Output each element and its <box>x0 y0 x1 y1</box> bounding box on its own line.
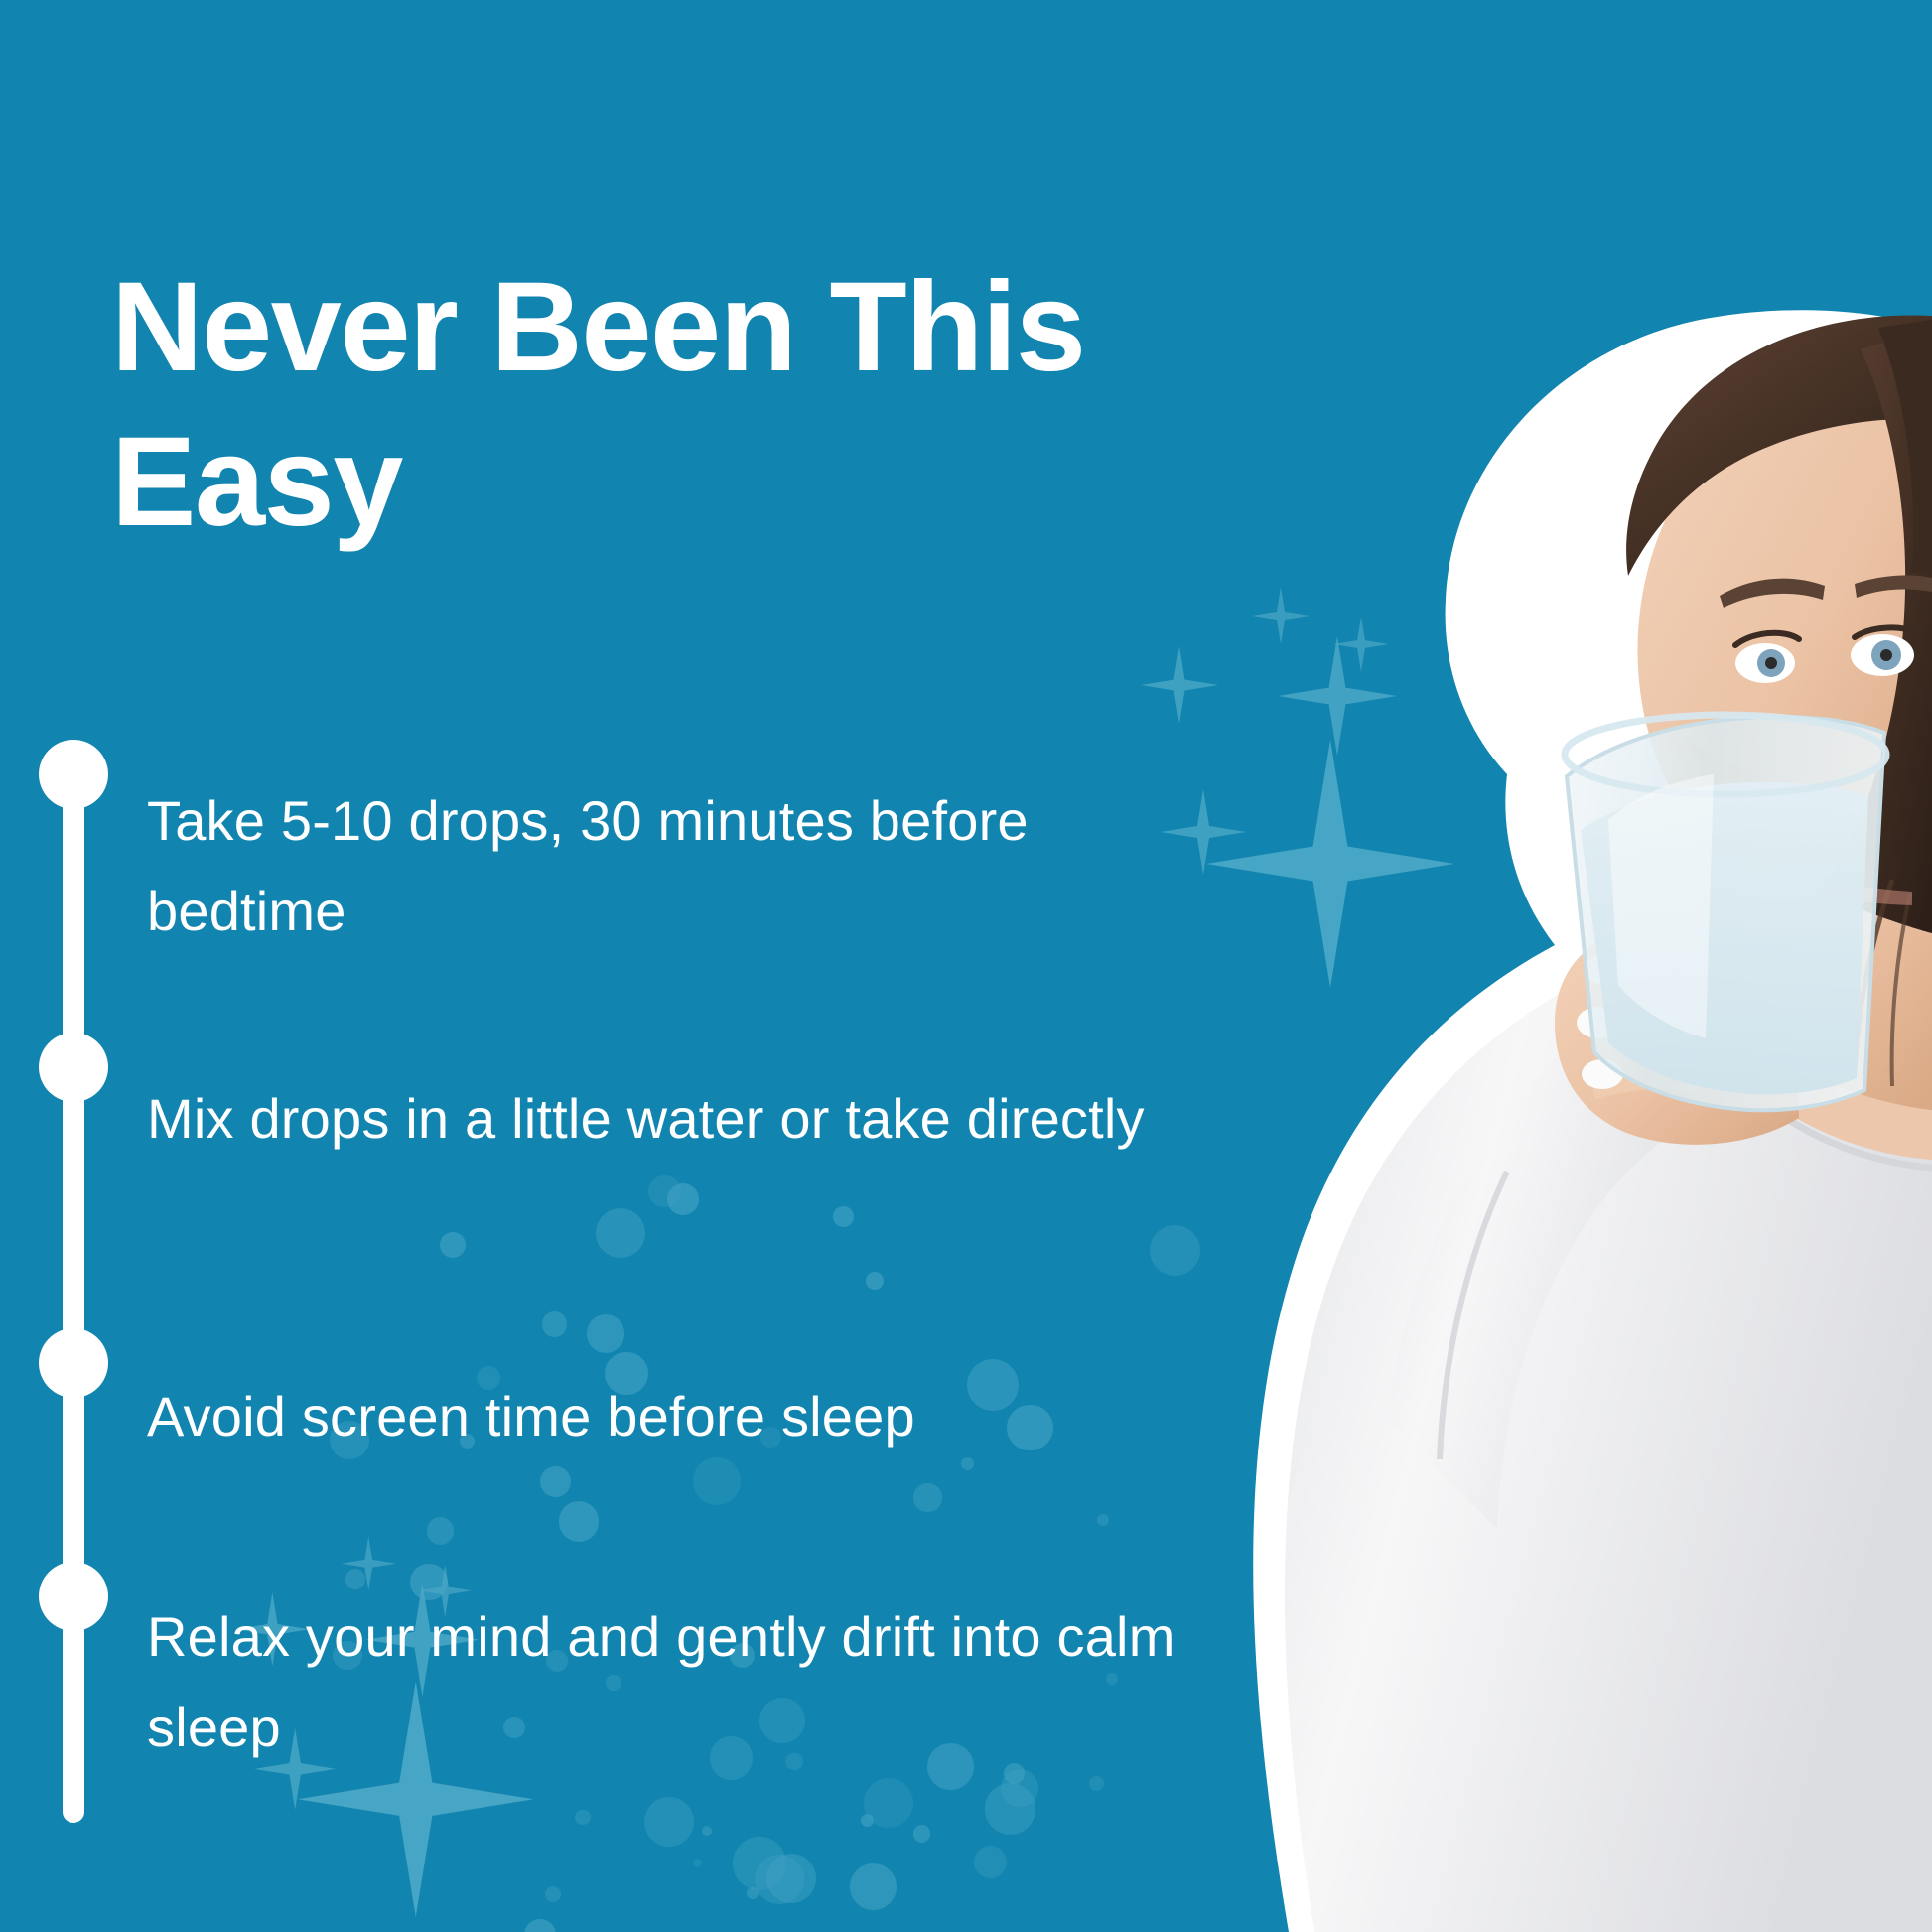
page-title: Never Been This Easy <box>111 250 1283 560</box>
bubble-decoration <box>702 1826 712 1836</box>
photo-water-glass <box>1565 715 1886 1110</box>
timeline-dot-4 <box>39 1562 108 1631</box>
bubble-decoration <box>648 1175 681 1208</box>
bubble-decoration <box>440 1232 466 1258</box>
bubble-decoration <box>596 1208 645 1258</box>
step-text-3: Avoid screen time before sleep <box>147 1372 1179 1462</box>
bubble-decoration <box>766 1854 816 1903</box>
bubble-decoration <box>644 1797 694 1847</box>
bubble-decoration <box>866 1272 884 1290</box>
bubble-decoration <box>575 1810 591 1826</box>
sparkle-star-icon <box>342 1536 396 1590</box>
timeline-dot-2 <box>39 1033 108 1102</box>
bubble-decoration <box>747 1887 759 1899</box>
bubble-decoration <box>913 1825 931 1843</box>
bubble-decoration <box>667 1183 699 1215</box>
bubble-decoration <box>542 1311 568 1337</box>
bubble-decoration <box>545 1886 561 1902</box>
bubble-decoration <box>850 1863 897 1910</box>
step-text-4: Relax your mind and gently drift into ca… <box>147 1592 1179 1772</box>
bubble-decoration <box>693 1859 702 1867</box>
timeline-dot-3 <box>39 1328 108 1398</box>
bubble-decoration <box>864 1778 913 1828</box>
step-text-2: Mix drops in a little water or take dire… <box>147 1074 1179 1165</box>
headline-line-2: Easy <box>111 405 1283 560</box>
bubble-decoration <box>345 1569 366 1589</box>
bubble-decoration <box>833 1206 854 1227</box>
bubble-decoration <box>559 1501 600 1542</box>
step-text-1: Take 5-10 drops, 30 minutes before bedti… <box>147 776 1179 956</box>
bubble-decoration <box>693 1457 741 1505</box>
bubble-decoration <box>540 1466 571 1497</box>
bubble-decoration <box>913 1483 941 1511</box>
promo-card: Never Been This Easy Take 5-10 drops, 30… <box>0 0 1932 1932</box>
headline-line-1: Never Been This <box>111 250 1283 405</box>
bubble-decoration <box>427 1517 454 1544</box>
timeline-dot-1 <box>39 740 108 809</box>
bubble-decoration <box>524 1919 556 1932</box>
bubble-decoration <box>861 1814 874 1827</box>
bubble-decoration <box>733 1837 785 1889</box>
bubble-decoration <box>755 1855 804 1904</box>
bubble-decoration <box>587 1314 625 1353</box>
timeline-rail <box>63 743 84 1823</box>
